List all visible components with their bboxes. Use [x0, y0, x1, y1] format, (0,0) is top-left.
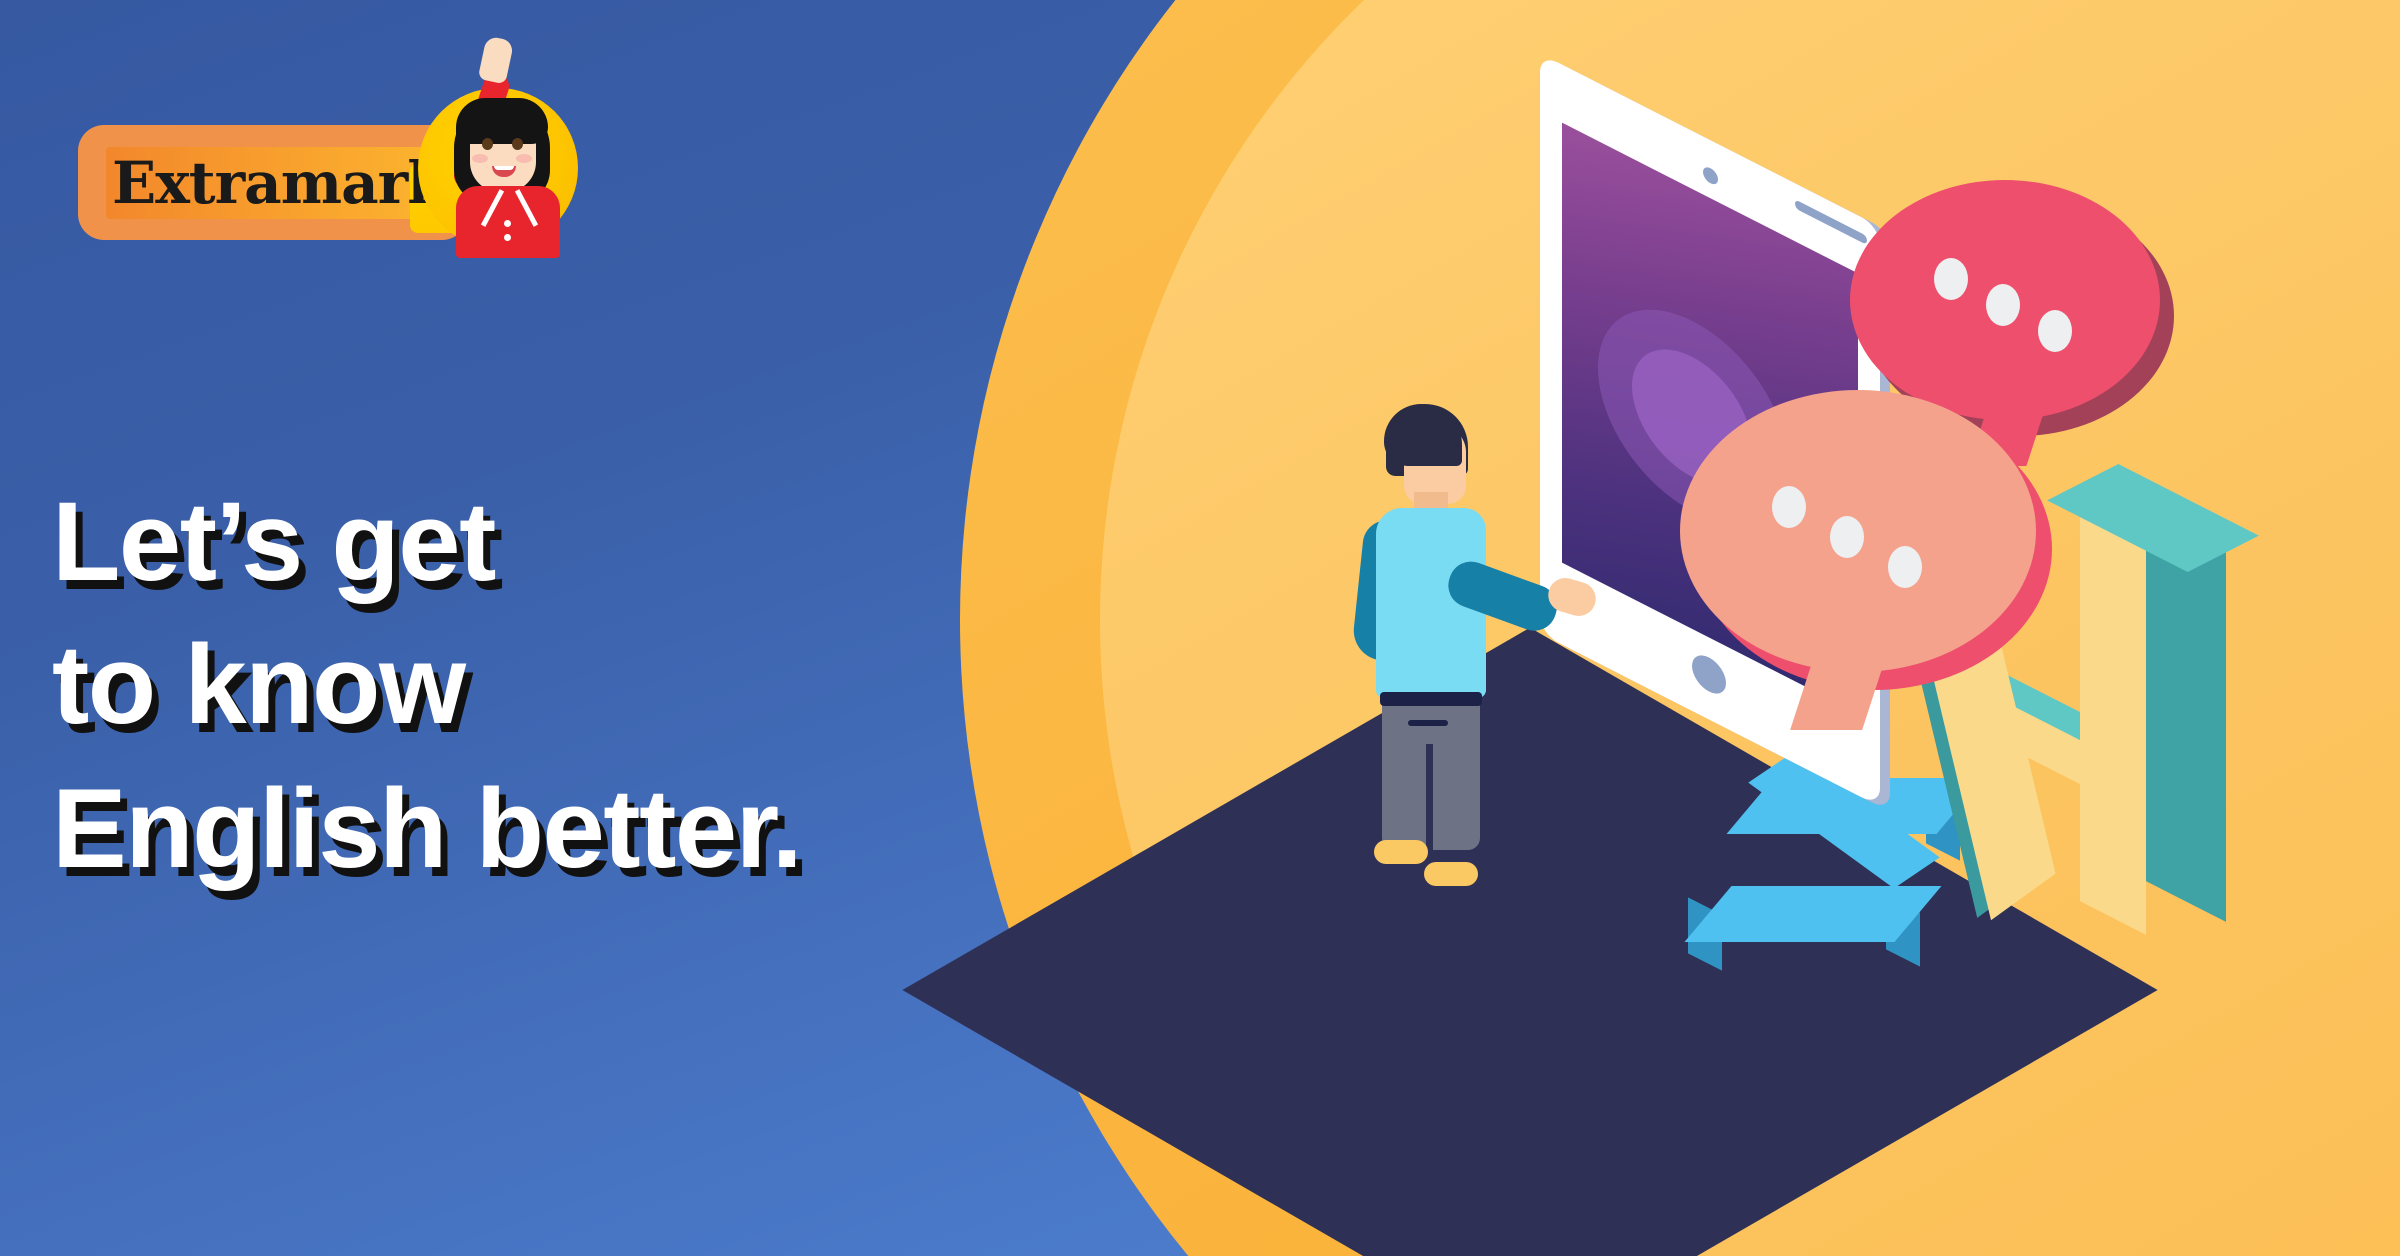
bubble-dot: [1986, 284, 2020, 326]
person-belt: [1380, 692, 1482, 706]
isometric-illustration: [1120, 170, 2400, 1256]
bubble-dot: [1888, 546, 1922, 588]
mascot-eye-right: [512, 138, 523, 150]
mascot-hair-fringe: [456, 98, 548, 144]
mascot-cheek-right: [516, 154, 532, 163]
speech-bubble-salmon-icon: [1680, 390, 2060, 690]
person-leg-gap: [1426, 744, 1433, 850]
person-shoe-right: [1424, 862, 1478, 886]
bubble-dot: [1772, 486, 1806, 528]
letter-a-right-leg: [2080, 509, 2146, 935]
mascot-hand: [478, 36, 515, 85]
mascot-waving-student-icon: [398, 28, 598, 253]
mascot-button-top: [504, 220, 511, 227]
bubble-dot: [2038, 310, 2072, 352]
person-shoe-left: [1374, 840, 1428, 864]
bubble-dot: [1934, 258, 1968, 300]
bubble-dot: [1830, 516, 1864, 558]
mascot-cheek-left: [472, 154, 488, 163]
mascot-eye-left: [482, 138, 493, 150]
page-title: Let’s get to know English better.: [52, 470, 801, 900]
person-pocket: [1408, 720, 1448, 726]
mascot-button-bottom: [504, 234, 511, 241]
standing-man-icon: [1352, 404, 1542, 804]
promo-banner: Extramarks Let’s get to know English bet…: [0, 0, 2400, 1256]
